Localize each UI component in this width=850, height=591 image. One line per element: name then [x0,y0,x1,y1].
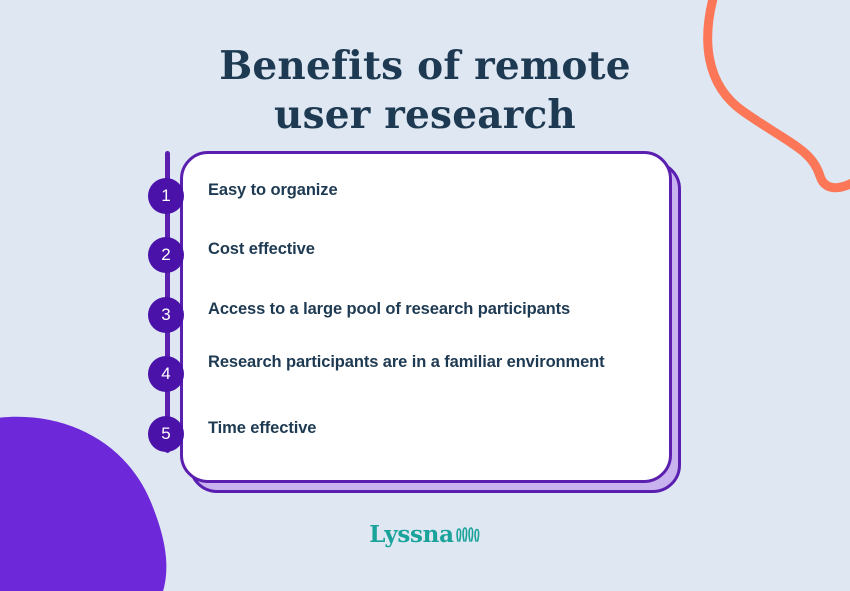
list-item-label: Time effective [208,416,316,440]
list-item: 4 Research participants are in a familia… [148,356,605,392]
list-item-label: Cost effective [208,237,315,261]
page-title-line-1: Benefits of remote [0,42,850,91]
lyssna-logo: Lyssna [0,521,850,548]
page-title-line-2: user research [0,91,850,140]
list-item: 3 Access to a large pool of research par… [148,297,570,333]
list-item-number: 2 [148,237,184,273]
list-item: 2 Cost effective [148,237,315,273]
list-item-number: 3 [148,297,184,333]
list-item-number: 5 [148,416,184,452]
list-item: 1 Easy to organize [148,178,338,214]
list-item-label: Research participants are in a familiar … [208,350,605,374]
squiggle-waveform-icon [455,525,481,545]
page-title: Benefits of remote user research [0,42,850,140]
list-item: 5 Time effective [148,416,316,452]
list-item-number: 1 [148,178,184,214]
benefits-list: 1 Easy to organize 2 Cost effective 3 Ac… [148,151,668,483]
list-item-label: Access to a large pool of research parti… [208,297,570,321]
list-item-label: Easy to organize [208,178,338,202]
list-item-number: 4 [148,356,184,392]
purple-blob-shape [0,417,166,591]
lyssna-wordmark: Lyssna [369,521,453,548]
